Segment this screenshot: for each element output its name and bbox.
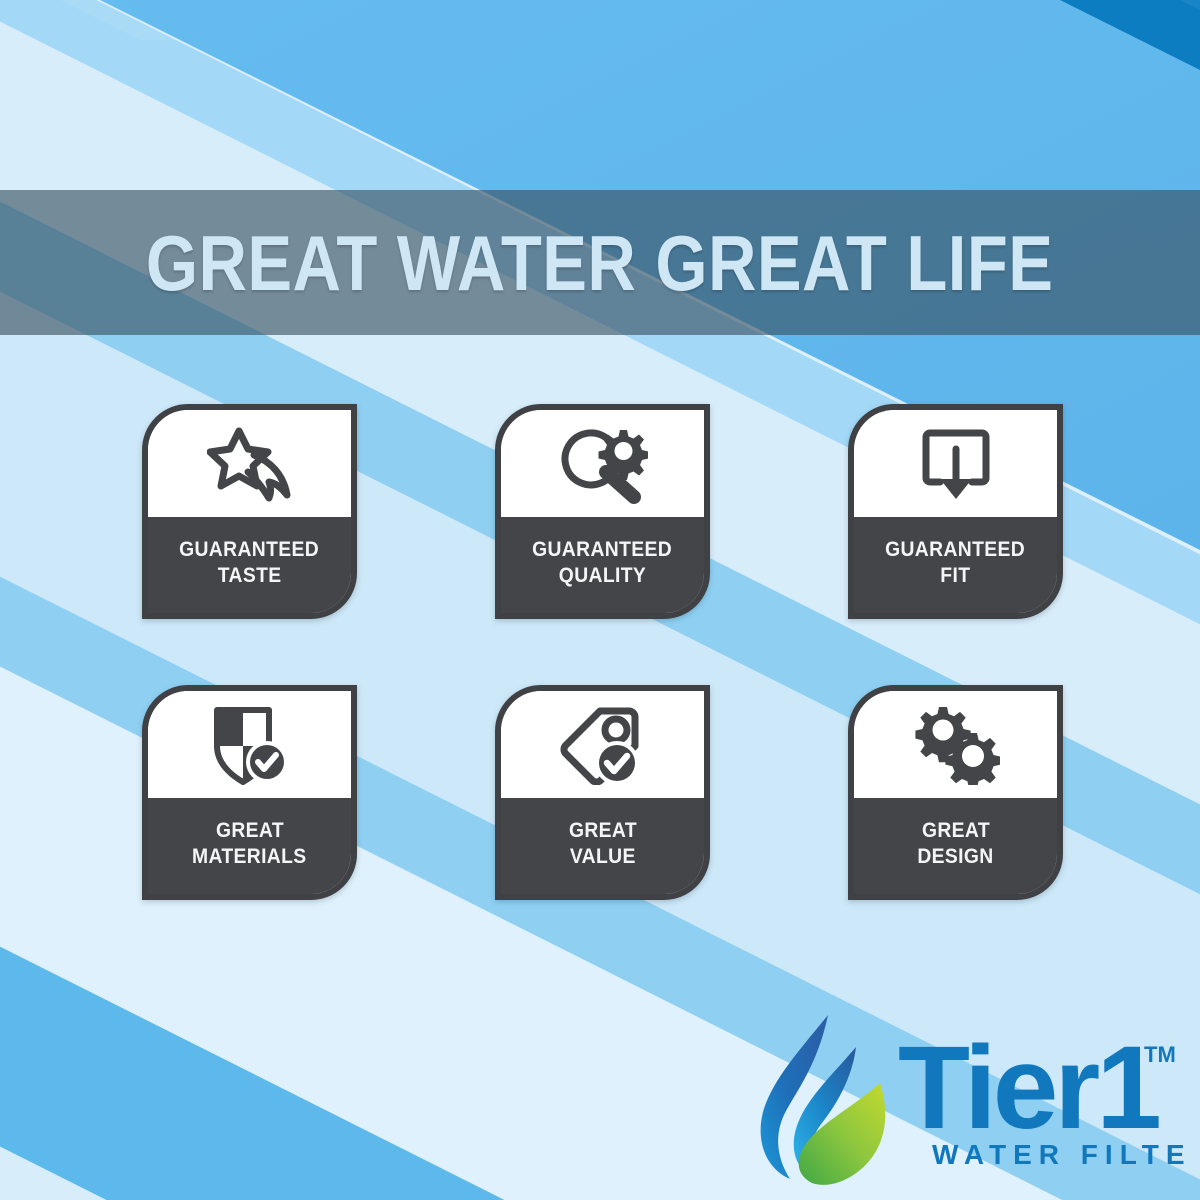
card-icon-area bbox=[148, 691, 351, 798]
card-icon-area bbox=[854, 691, 1057, 798]
feature-card-guaranteed-quality[interactable]: GUARANTEED QUALITY bbox=[495, 404, 710, 619]
shield-check-icon bbox=[209, 704, 291, 786]
gears-icon bbox=[912, 705, 1000, 785]
magnifier-gear-icon bbox=[558, 424, 648, 504]
feature-card-guaranteed-taste[interactable]: GUARANTEED TASTE bbox=[142, 404, 357, 619]
card-label-line2: FIT bbox=[940, 564, 970, 588]
card-label-line2: TASTE bbox=[218, 564, 282, 588]
card-label-line1: GREAT bbox=[215, 819, 283, 843]
card-icon-area bbox=[148, 410, 351, 517]
card-label-line2: DESIGN bbox=[917, 845, 993, 869]
brand-wordmark: Tier1 TM WATER FILTERS bbox=[898, 1024, 1190, 1179]
card-label: GREAT MATERIALS bbox=[148, 798, 351, 894]
page-title: GREAT WATER GREAT LIFE bbox=[146, 224, 1054, 302]
headline-banner: GREAT WATER GREAT LIFE bbox=[0, 190, 1200, 335]
card-label: GREAT DESIGN bbox=[854, 798, 1057, 894]
trademark-symbol: TM bbox=[1144, 1042, 1176, 1067]
card-label-line1: GUARANTEED bbox=[179, 538, 319, 562]
insert-down-arrow-icon bbox=[918, 425, 994, 503]
feature-card-great-materials[interactable]: GREAT MATERIALS bbox=[142, 685, 357, 900]
card-icon-area bbox=[854, 410, 1057, 517]
feature-card-guaranteed-fit[interactable]: GUARANTEED FIT bbox=[848, 404, 1063, 619]
brand-tagline-text: WATER FILTERS bbox=[932, 1139, 1190, 1170]
price-tag-check-icon bbox=[559, 705, 647, 785]
card-label-line1: GUARANTEED bbox=[532, 538, 672, 562]
card-label: GUARANTEED QUALITY bbox=[501, 517, 704, 613]
shooting-star-icon bbox=[207, 425, 293, 503]
feature-card-great-design[interactable]: GREAT DESIGN bbox=[848, 685, 1063, 900]
water-drop-leaf-logo-icon bbox=[752, 1011, 892, 1192]
brand-name-text: Tier1 bbox=[898, 1024, 1159, 1154]
card-label-line1: GREAT bbox=[568, 819, 636, 843]
feature-card-great-value[interactable]: GREAT VALUE bbox=[495, 685, 710, 900]
card-label: GUARANTEED TASTE bbox=[148, 517, 351, 613]
feature-card-grid: GUARANTEED TASTE bbox=[142, 404, 1062, 900]
brand-logo[interactable]: Tier1 TM WATER FILTERS bbox=[752, 1006, 1192, 1196]
card-label: GREAT VALUE bbox=[501, 798, 704, 894]
infographic-canvas: GREAT WATER GREAT LIFE GUARANTEED TASTE bbox=[0, 0, 1200, 1200]
card-label-line2: VALUE bbox=[570, 845, 636, 869]
card-icon-area bbox=[501, 691, 704, 798]
card-label-line1: GREAT bbox=[921, 819, 989, 843]
card-icon-area bbox=[501, 410, 704, 517]
card-label-line2: QUALITY bbox=[559, 564, 646, 588]
card-label: GUARANTEED FIT bbox=[854, 517, 1057, 613]
card-label-line1: GUARANTEED bbox=[885, 538, 1025, 562]
card-label-line2: MATERIALS bbox=[192, 845, 307, 869]
